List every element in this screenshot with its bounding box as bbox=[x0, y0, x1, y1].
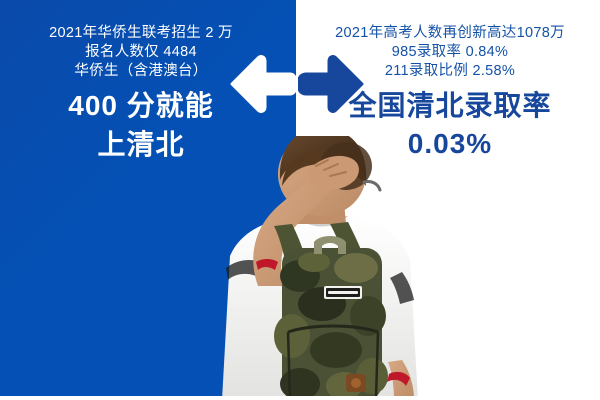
student-photo bbox=[196, 136, 428, 400]
left-stat-line-1: 2021年华侨生联考招生 2 万 bbox=[0, 24, 282, 43]
right-stat-line-3: 211录取比例 2.58% bbox=[300, 62, 600, 81]
left-headline-1: 400 分就能 bbox=[0, 88, 282, 125]
left-stat-line-3: 华侨生（含港澳台） bbox=[0, 62, 282, 81]
left-stat-line-2: 报名人数仅 4484 bbox=[0, 43, 282, 62]
poster-canvas: 2021年华侨生联考招生 2 万 报名人数仅 4484 华侨生（含港澳台） 40… bbox=[0, 0, 600, 400]
left-headline-2: 上清北 bbox=[0, 127, 282, 164]
right-headline-2: 0.03% bbox=[300, 126, 600, 163]
right-stat-line-2: 985录取率 0.84% bbox=[300, 43, 600, 62]
right-headline-1: 全国清北录取率 bbox=[300, 88, 600, 125]
bottom-white-strip bbox=[0, 396, 600, 400]
right-panel-text: 2021年高考人数再创新高达1078万 985录取率 0.84% 211录取比例… bbox=[300, 24, 600, 163]
right-stat-line-1: 2021年高考人数再创新高达1078万 bbox=[300, 24, 600, 43]
left-panel-text: 2021年华侨生联考招生 2 万 报名人数仅 4484 华侨生（含港澳台） 40… bbox=[0, 24, 282, 164]
